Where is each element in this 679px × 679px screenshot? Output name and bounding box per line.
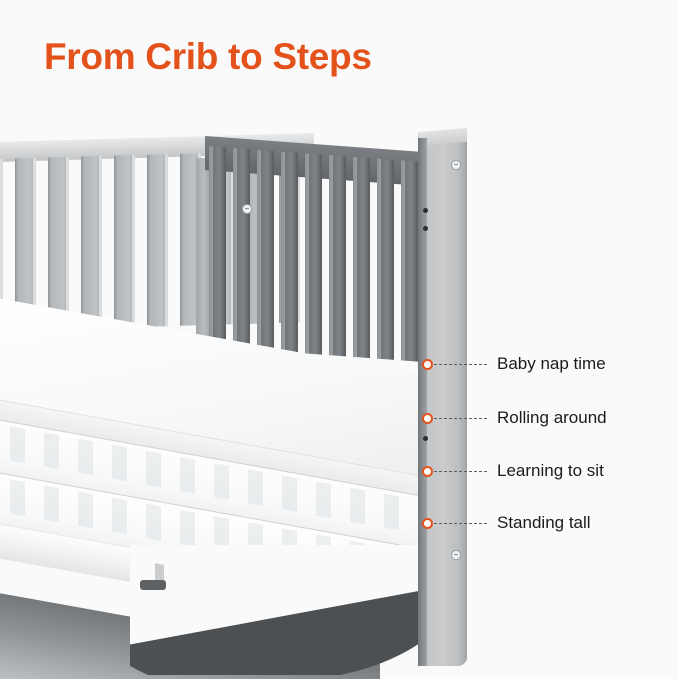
callout-leader-line-3 <box>434 471 487 472</box>
slat-highlight <box>353 157 357 357</box>
corner-post-inner-edge <box>418 138 427 666</box>
slat-highlight <box>257 150 261 350</box>
ghost-slat <box>282 475 297 512</box>
crib-slat <box>233 148 250 349</box>
ghost-slat <box>350 488 365 525</box>
ghost-slat <box>248 469 263 506</box>
pin-hole-icon <box>423 436 428 441</box>
crib-slat <box>209 146 226 347</box>
crib-slat <box>114 155 135 328</box>
ghost-slat <box>112 445 127 482</box>
ghost-slat <box>10 479 25 516</box>
ghost-slat <box>180 457 195 494</box>
crib-corner-post <box>418 138 467 666</box>
ghost-slat <box>146 451 161 488</box>
callout-leader-line-2 <box>434 418 487 419</box>
ghost-slat <box>10 426 25 463</box>
slat-highlight <box>329 155 333 355</box>
crib-slat <box>147 154 168 327</box>
callout-marker-1[interactable] <box>422 359 433 370</box>
callout-label-2: Rolling around <box>497 408 607 428</box>
callout-marker-2[interactable] <box>422 413 433 424</box>
slat-highlight <box>305 153 309 353</box>
page-title: From Crib to Steps <box>44 36 372 78</box>
callout-marker-3[interactable] <box>422 466 433 477</box>
crib-slat <box>401 160 418 361</box>
crib-slat <box>281 152 298 353</box>
slat-highlight <box>209 146 213 346</box>
ghost-slat <box>78 439 93 476</box>
callout-label-1: Baby nap time <box>497 354 606 374</box>
crib-slat <box>329 155 346 356</box>
crib-slat <box>48 157 69 330</box>
crib-product-photo <box>0 120 500 679</box>
crib-slat <box>257 150 274 351</box>
ghost-slat <box>112 498 127 535</box>
product-infographic: From Crib to Steps <box>0 0 679 679</box>
pin-hole-icon <box>423 208 428 213</box>
crib-base-arch-support <box>130 545 430 675</box>
slat-highlight <box>233 148 237 348</box>
crib-slat <box>377 159 394 360</box>
screw-icon <box>451 160 461 170</box>
pin-hole-icon <box>423 226 428 231</box>
slat-highlight <box>377 159 381 359</box>
ghost-slat <box>146 504 161 541</box>
crib-slat <box>305 153 322 354</box>
crib-side-rail <box>205 136 445 376</box>
ghost-slat <box>214 463 229 500</box>
slat-highlight <box>281 152 285 352</box>
screw-icon <box>451 550 461 560</box>
callout-leader-line-1 <box>434 364 487 365</box>
callout-label-4: Standing tall <box>497 513 591 533</box>
ghost-slat <box>180 510 195 547</box>
ghost-slat <box>44 486 59 523</box>
ghost-slat <box>384 494 399 531</box>
callout-label-3: Learning to sit <box>497 461 604 481</box>
callout-leader-line-4 <box>434 523 487 524</box>
crib-far-leg-foot <box>140 580 166 590</box>
crib-slat <box>353 157 370 358</box>
ghost-slat <box>316 481 331 518</box>
crib-slat <box>81 156 102 329</box>
slat-highlight <box>401 160 405 360</box>
screw-icon <box>242 204 252 214</box>
callout-marker-4[interactable] <box>422 518 433 529</box>
ghost-slat <box>44 433 59 470</box>
ghost-slat <box>78 492 93 529</box>
